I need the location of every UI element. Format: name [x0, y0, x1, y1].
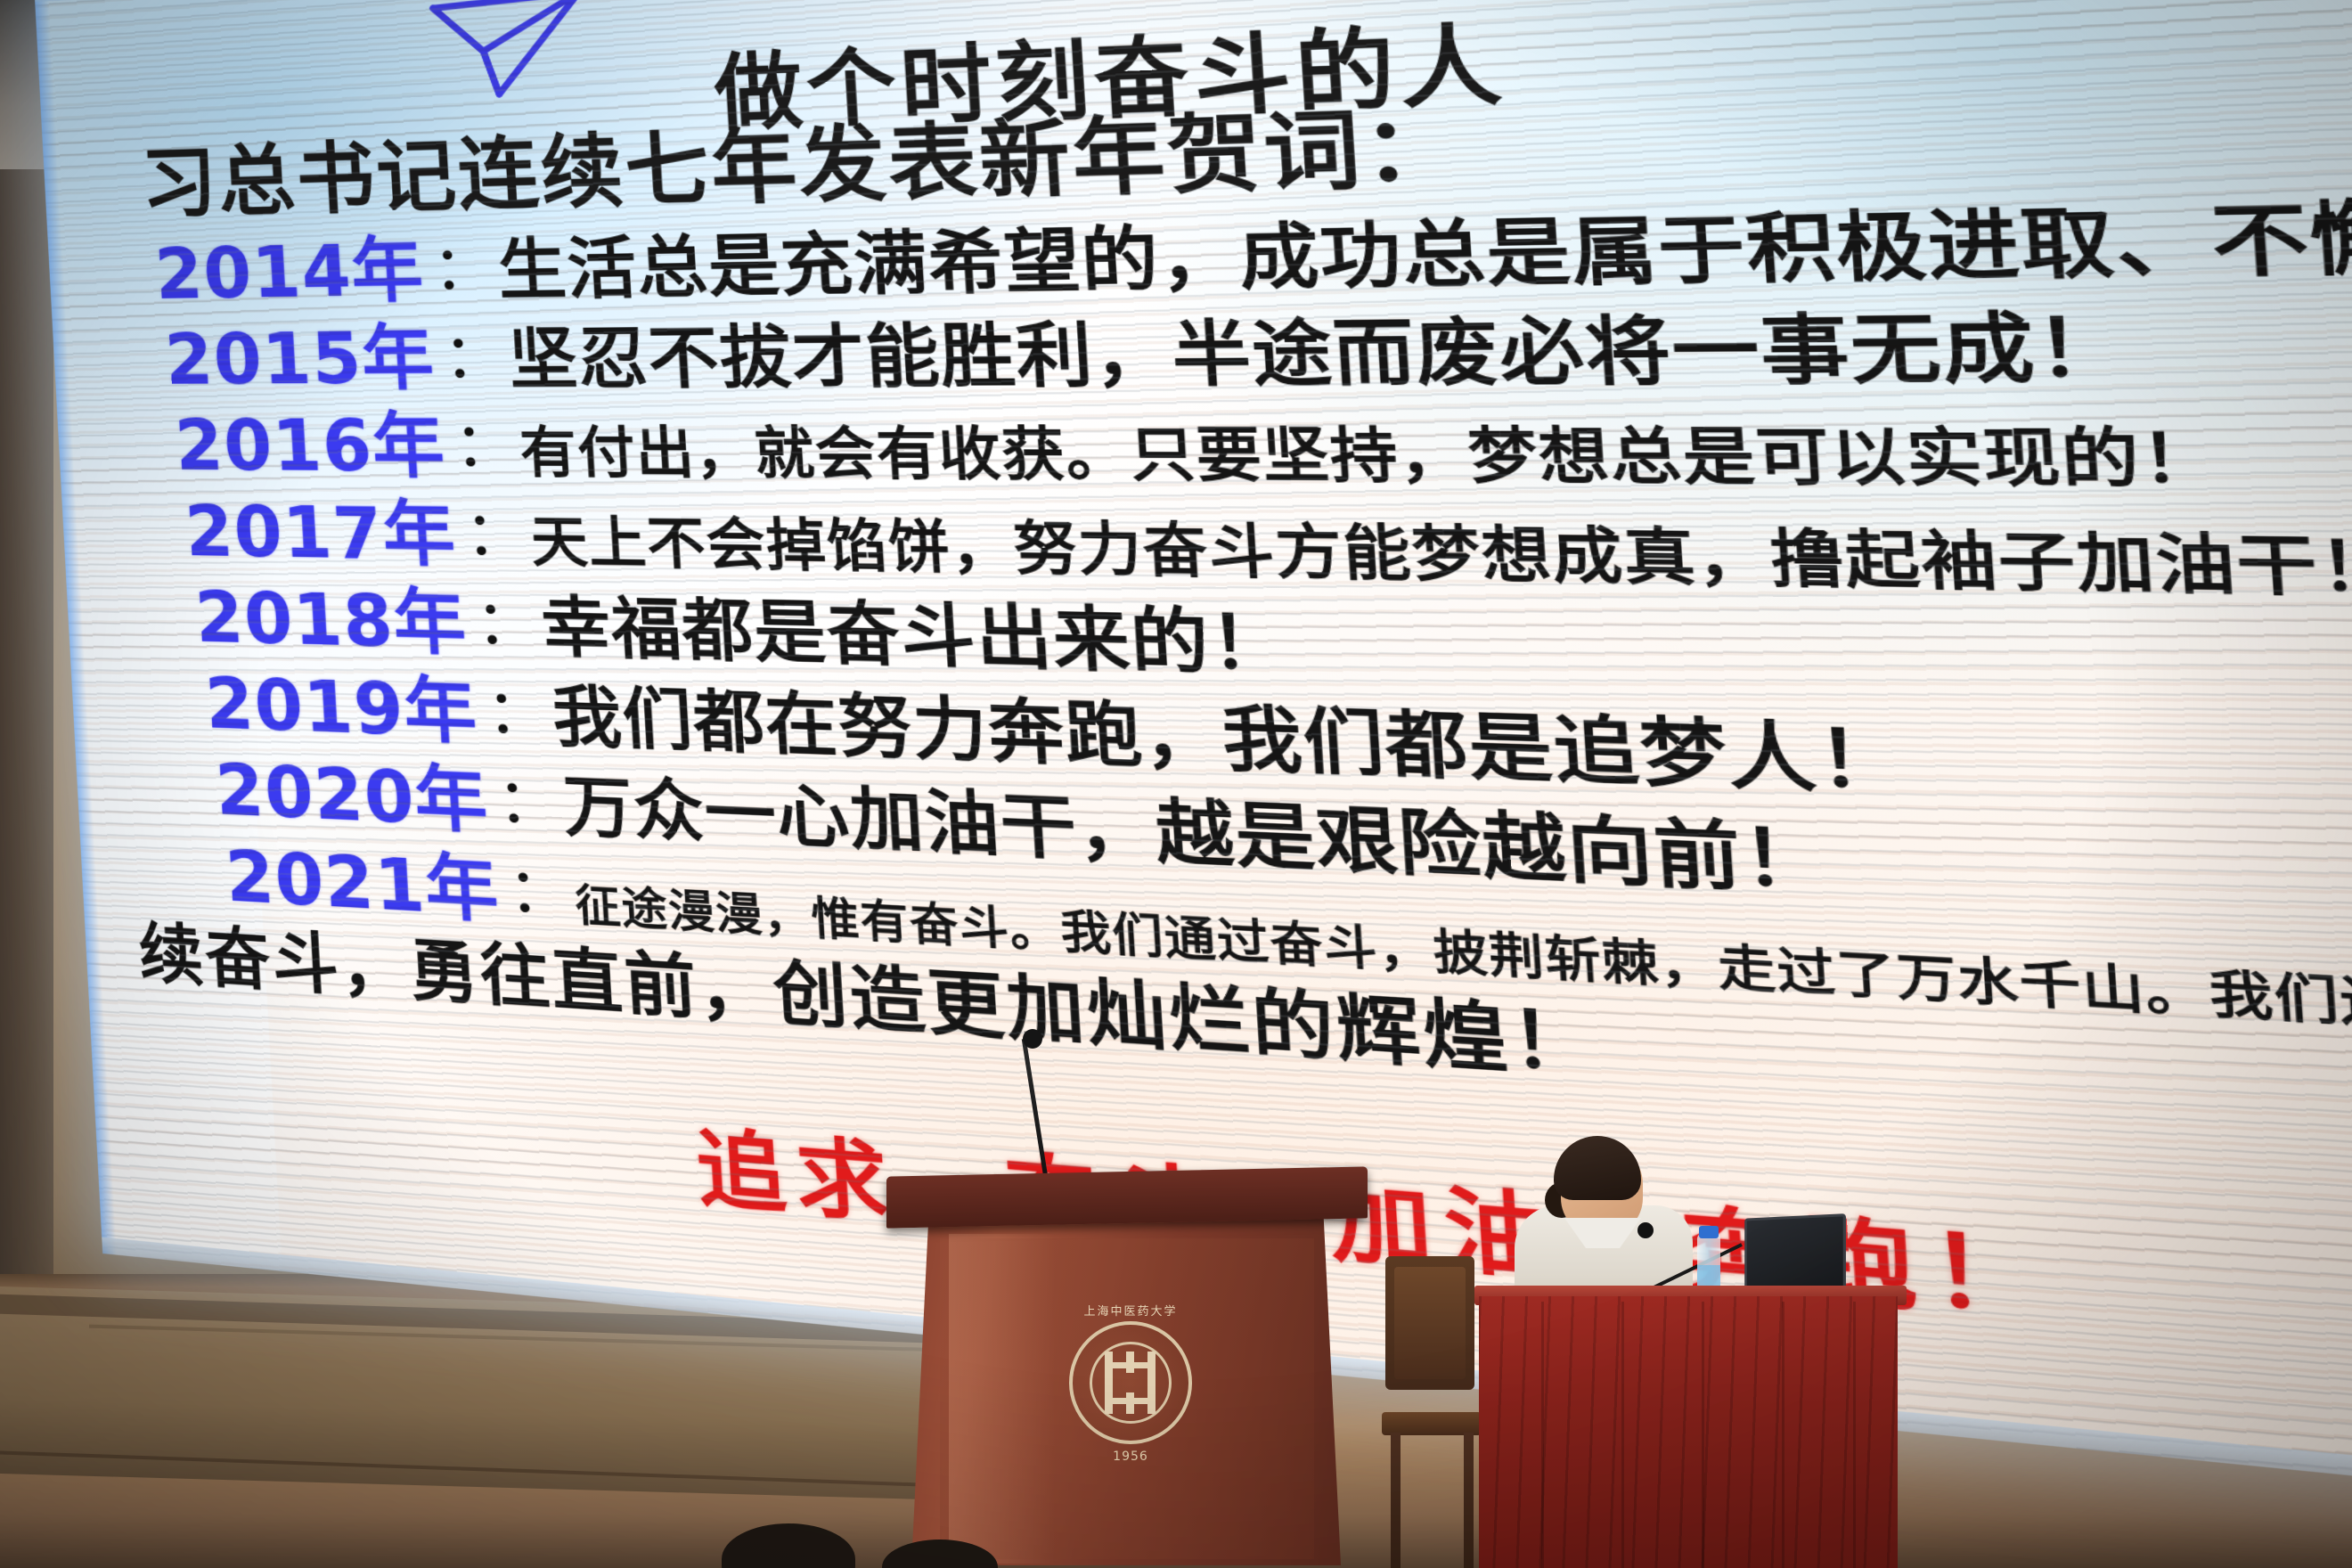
year-quote-row: 2016年：有付出，就会有收获。只要坚持，梦想总是可以实现的！: [161, 380, 2352, 493]
quote-colon: ：: [496, 841, 577, 933]
audience-head: [882, 1539, 998, 1568]
wooden-chair: [1385, 1256, 1479, 1568]
water-bottle-cap: [1699, 1226, 1719, 1238]
chair-leg: [1391, 1433, 1401, 1568]
quote-colon: ：: [431, 307, 510, 395]
quote-colon: ：: [486, 751, 566, 842]
paper-plane-icon: [424, 0, 594, 104]
podium-top-surface: [886, 1166, 1368, 1228]
audience-head: [722, 1523, 855, 1568]
quote-colon: ：: [463, 574, 543, 663]
presenter-hair: [1554, 1136, 1641, 1200]
quote-colon: ：: [421, 219, 500, 307]
chair-leg: [1464, 1433, 1474, 1568]
university-emblem: 上海中医药大学 1956: [1069, 1321, 1192, 1444]
screenshot-root: 做个时刻奋斗的人 习总书记连续七年发表新年贺词： 2014年：生活总是充满希望的…: [0, 0, 2352, 1568]
emblem-founding-year: 1956: [1073, 1450, 1188, 1464]
emblem-chinese-name: 上海中医药大学: [1073, 1302, 1188, 1319]
red-draped-table: [1479, 1296, 1898, 1568]
emblem-inner-ring: [1090, 1342, 1172, 1424]
audience-silhouettes: [713, 1506, 1087, 1568]
podium-microphone-head: [1023, 1029, 1042, 1049]
quote-colon: ：: [453, 485, 533, 573]
chair-back-inset: [1394, 1267, 1466, 1379]
desk-microphone-head: [1637, 1222, 1654, 1238]
quote-colon: ：: [442, 396, 522, 484]
lectern-podium: 上海中医药大学 1956: [886, 1172, 1368, 1564]
quote-colon: ：: [475, 663, 555, 753]
